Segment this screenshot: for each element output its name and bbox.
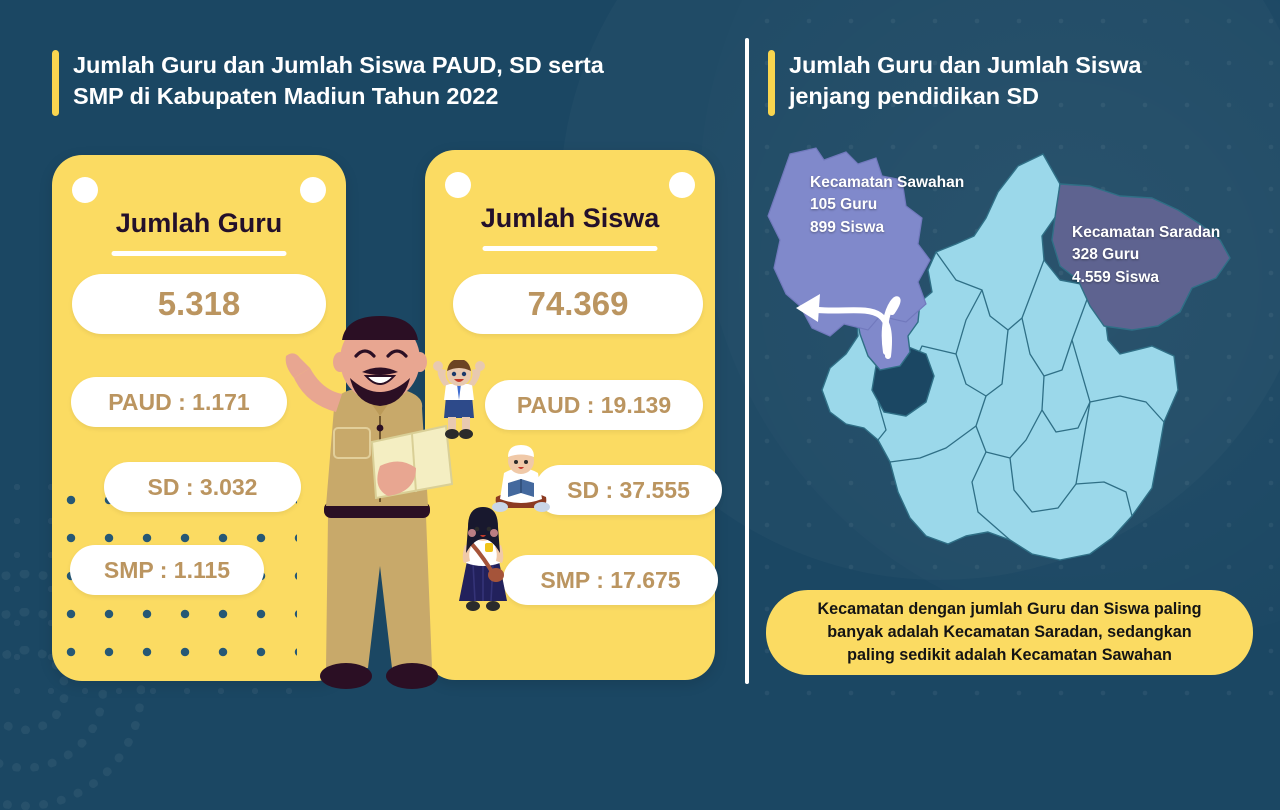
card-heading-underline xyxy=(112,251,287,256)
title-accent-bar xyxy=(768,50,775,116)
right-panel-title-text: Jumlah Guru dan Jumlah Siswa jenjang pen… xyxy=(789,50,1141,113)
card-punch-hole-left xyxy=(445,172,471,198)
map-label-sawahan: Kecamatan Sawahan 105 Guru 899 Siswa xyxy=(810,172,964,239)
stat-card-jumlah-guru: Jumlah Guru 5.318 PAUD : 1.171 SD : 3.03… xyxy=(52,155,346,681)
siswa-sd-value: SD : 37.555 xyxy=(535,465,722,515)
guru-sd-value: SD : 3.032 xyxy=(104,462,301,512)
card-heading: Jumlah Siswa xyxy=(425,203,715,234)
siswa-total-value: 74.369 xyxy=(453,274,703,334)
panel-divider xyxy=(745,38,749,684)
card-punch-hole-right xyxy=(669,172,695,198)
card-punch-hole-left xyxy=(72,177,98,203)
siswa-smp-value: SMP : 17.675 xyxy=(503,555,718,605)
guru-smp-value: SMP : 1.115 xyxy=(70,545,264,595)
left-panel-title: Jumlah Guru dan Jumlah Siswa PAUD, SD se… xyxy=(52,50,712,116)
left-panel-title-text: Jumlah Guru dan Jumlah Siswa PAUD, SD se… xyxy=(73,50,604,113)
right-panel-title: Jumlah Guru dan Jumlah Siswa jenjang pen… xyxy=(768,50,1238,116)
title-accent-bar xyxy=(52,50,59,116)
map-label-saradan: Kecamatan Saradan 328 Guru 4.559 Siswa xyxy=(1072,222,1220,289)
guru-total-value: 5.318 xyxy=(72,274,326,334)
siswa-paud-value: PAUD : 19.139 xyxy=(485,380,703,430)
card-punch-hole-right xyxy=(300,177,326,203)
guru-paud-value: PAUD : 1.171 xyxy=(71,377,287,427)
map-summary-caption: Kecamatan dengan jumlah Guru dan Siswa p… xyxy=(766,590,1253,675)
card-heading-underline xyxy=(483,246,658,251)
card-heading: Jumlah Guru xyxy=(52,208,346,239)
stat-card-jumlah-siswa: Jumlah Siswa 74.369 PAUD : 19.139 SD : 3… xyxy=(425,150,715,680)
